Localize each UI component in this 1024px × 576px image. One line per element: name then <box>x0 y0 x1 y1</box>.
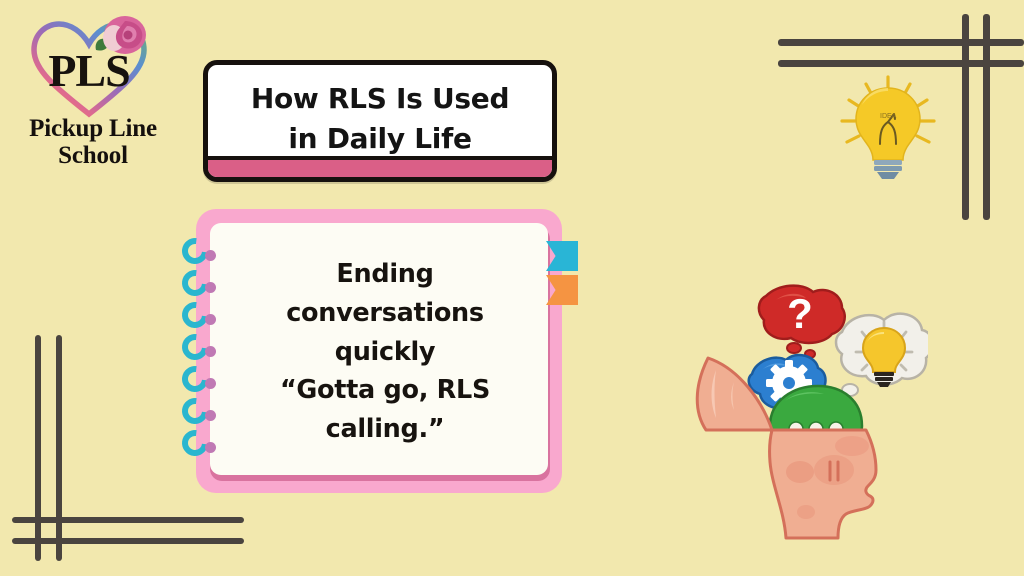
spiral-binding-ring-icon <box>182 430 216 456</box>
logo-brand-text: Pickup Line School <box>8 116 178 170</box>
ribbon-bookmark-icon <box>546 241 578 271</box>
question-thought-bubble-icon: ? <box>759 286 845 358</box>
hatch-vertical-line <box>962 14 969 220</box>
svg-text:PLS: PLS <box>48 45 129 96</box>
svg-text:?: ? <box>787 290 813 337</box>
hatch-vertical-line <box>35 335 41 561</box>
title-accent-bar <box>208 156 552 177</box>
slide-canvas: PLS Pickup Line School How RLS Is Used i… <box>0 0 1024 576</box>
svg-text:IDEA: IDEA <box>880 113 897 120</box>
open-head-brain-icon: ? <box>676 266 928 542</box>
spiral-binding <box>182 238 232 454</box>
notepad-card: Ending conversations quickly “Gotta go, … <box>196 209 562 493</box>
spiral-binding-ring-icon <box>182 334 216 360</box>
hatch-horizontal-line <box>12 517 244 523</box>
hatch-horizontal-line <box>12 538 244 544</box>
hatch-vertical-line <box>983 14 990 220</box>
lightbulb-idea-icon: IDEA <box>836 74 940 180</box>
title-card: How RLS Is Used in Daily Life <box>203 60 557 182</box>
notepad-body-text: Ending conversations quickly “Gotta go, … <box>236 255 534 449</box>
spiral-binding-ring-icon <box>182 398 216 424</box>
notepad-page: Ending conversations quickly “Gotta go, … <box>210 223 548 475</box>
ribbon-bookmark-icon <box>546 275 578 305</box>
spiral-binding-ring-icon <box>182 238 216 264</box>
pls-heart-rose-icon: PLS <box>26 10 156 122</box>
brand-logo[interactable]: PLS Pickup Line School <box>8 8 178 178</box>
spiral-binding-ring-icon <box>182 270 216 296</box>
spiral-binding-ring-icon <box>182 366 216 392</box>
page-title: How RLS Is Used in Daily Life <box>208 79 552 159</box>
hatch-vertical-line <box>56 335 62 561</box>
spiral-binding-ring-icon <box>182 302 216 328</box>
